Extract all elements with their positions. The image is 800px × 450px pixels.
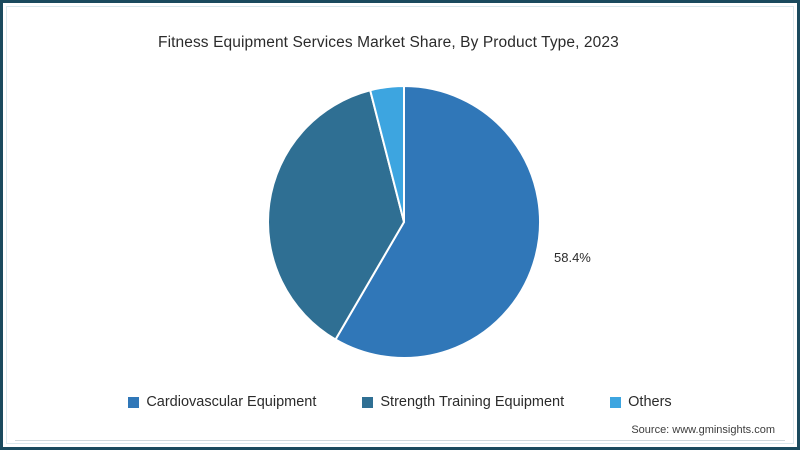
legend-item-strength-training-equipment[interactable]: Strength Training Equipment [362,394,564,410]
source-attribution: Source: www.gminsights.com [631,424,775,436]
pie-slices [268,86,540,358]
legend-swatch-icon [362,397,373,408]
chart-card: Fitness Equipment Services Market Share,… [0,0,800,450]
legend-item-cardiovascular-equipment[interactable]: Cardiovascular Equipment [128,394,316,410]
legend-label: Cardiovascular Equipment [146,394,316,410]
legend-swatch-icon [610,397,621,408]
legend-swatch-icon [128,397,139,408]
chart-legend: Cardiovascular Equipment Strength Traini… [3,394,797,410]
legend-label: Strength Training Equipment [380,394,564,410]
legend-item-others[interactable]: Others [610,394,672,410]
pie-svg [268,86,540,358]
pie-value-label: 58.4% [554,250,591,265]
legend-label: Others [628,394,672,410]
chart-title: Fitness Equipment Services Market Share,… [158,34,619,52]
source-divider [15,440,785,441]
pie-chart [268,86,540,358]
